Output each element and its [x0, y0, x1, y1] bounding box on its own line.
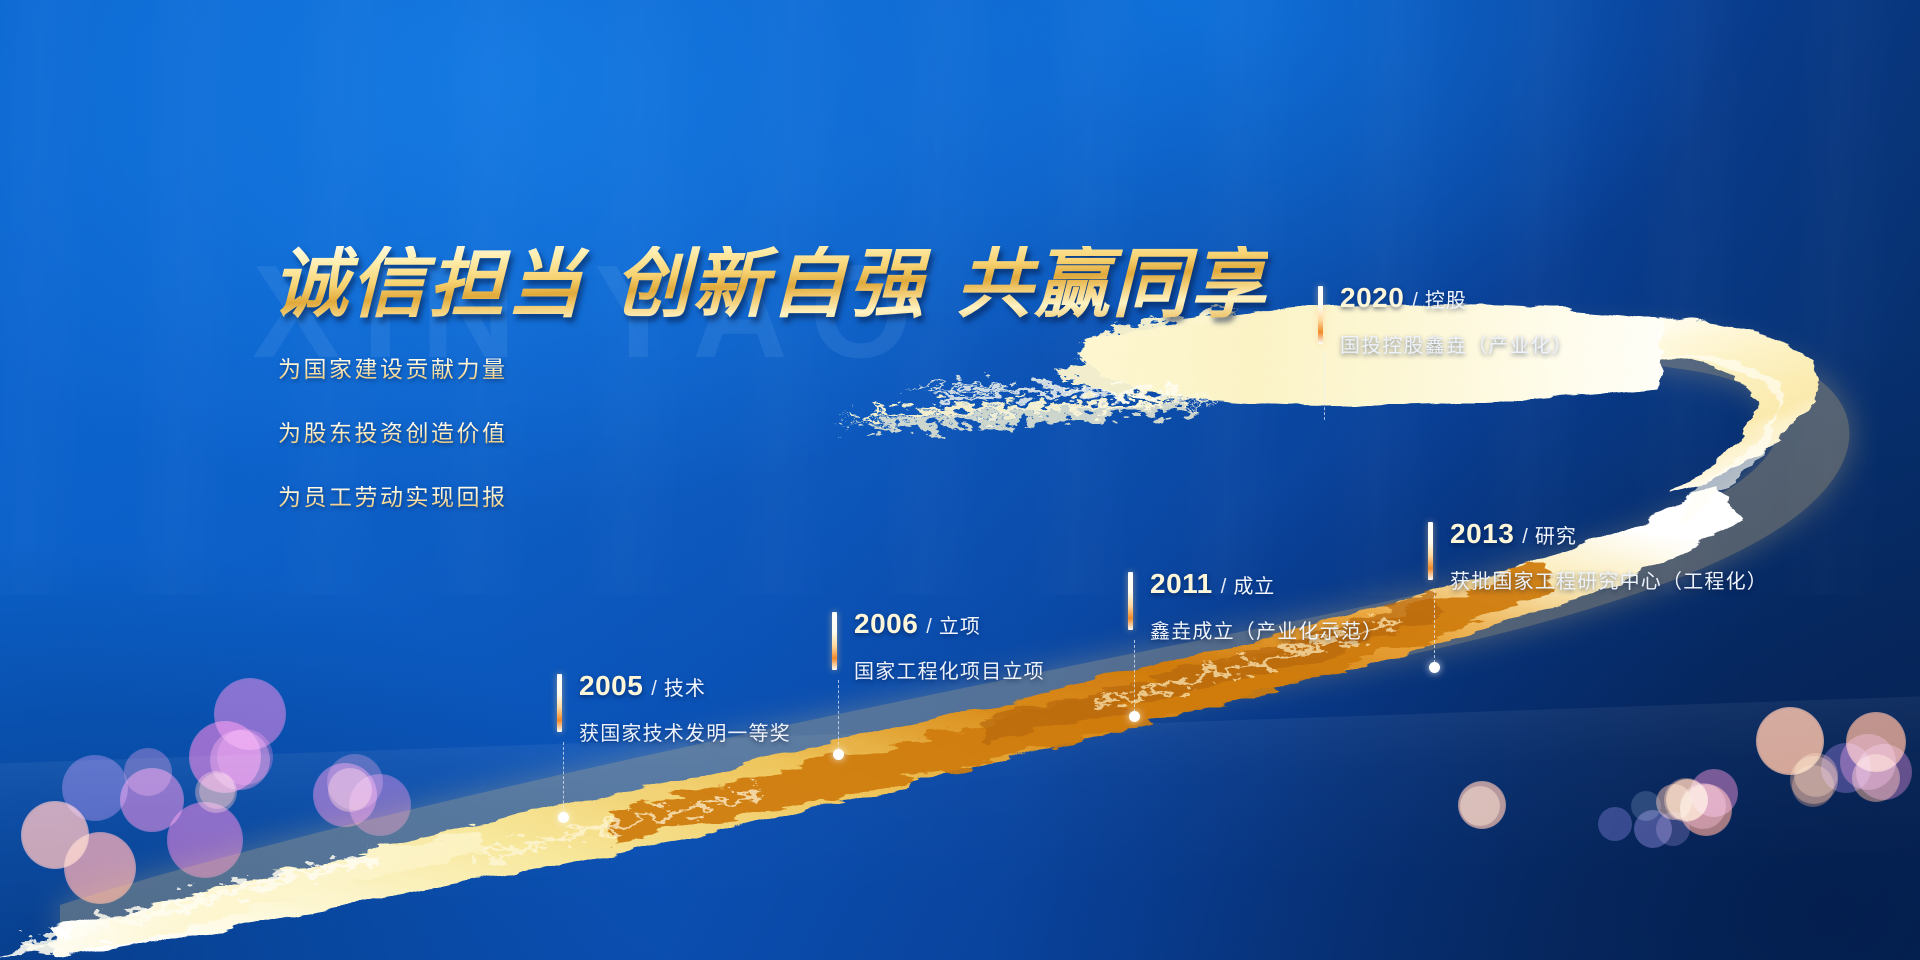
slogan-line-3: 为员工劳动实现回报 — [278, 486, 508, 509]
milestone-heading: 2005/技术 — [579, 672, 791, 700]
milestone-year: 2006 — [854, 610, 918, 638]
milestone-2020[interactable]: 2020/控股 国投控股鑫垚（产业化） — [1318, 284, 1573, 358]
headline-part-2: 创新自强 — [614, 239, 926, 328]
milestone-tag: 成立 — [1233, 577, 1275, 597]
slogan-line-1: 为国家建设贡献力量 — [278, 358, 508, 381]
banner-canvas: XIN YAO 诚信担当创新自强共赢同享 为国家建设贡献力量 为股东投资创造价值… — [0, 0, 1920, 960]
milestone-2013[interactable]: 2013/研究 获批国家工程研究中心（工程化） — [1428, 520, 1768, 594]
milestone-accent-bar — [1318, 286, 1323, 344]
milestone-separator: / — [1221, 577, 1227, 597]
milestone-2005[interactable]: 2005/技术 获国家技术发明一等奖 — [557, 672, 791, 746]
milestone-accent-bar — [557, 674, 562, 732]
milestone-tag: 立项 — [939, 617, 981, 637]
milestone-separator: / — [1522, 527, 1528, 547]
milestone-tag: 控股 — [1425, 291, 1467, 311]
milestone-year: 2020 — [1340, 284, 1404, 312]
milestone-separator: / — [926, 617, 932, 637]
milestone-year: 2011 — [1150, 570, 1213, 598]
milestone-tag: 技术 — [664, 679, 706, 699]
milestone-year: 2013 — [1450, 520, 1514, 548]
milestone-tag: 研究 — [1535, 527, 1577, 547]
milestone-heading: 2013/研究 — [1450, 520, 1768, 548]
milestone-description: 国家工程化项目立项 — [854, 655, 1045, 684]
headline-part-1: 诚信担当 — [272, 239, 584, 328]
milestone-separator: / — [651, 679, 657, 699]
headline-part-3: 共赢同享 — [956, 239, 1268, 328]
milestone-heading: 2006/立项 — [854, 610, 1045, 638]
milestone-heading: 2020/控股 — [1340, 284, 1573, 312]
milestone-description: 获批国家工程研究中心（工程化） — [1450, 565, 1768, 594]
slogan-line-2: 为股东投资创造价值 — [278, 422, 508, 445]
milestone-heading: 2011/成立 — [1150, 570, 1383, 598]
milestone-description: 鑫垚成立（产业化示范） — [1150, 615, 1383, 644]
milestone-description: 获国家技术发明一等奖 — [579, 717, 791, 746]
page-title: 诚信担当创新自强共赢同享 — [272, 246, 1268, 322]
milestone-description: 国投控股鑫垚（产业化） — [1340, 329, 1573, 358]
milestone-accent-bar — [1428, 522, 1433, 580]
milestone-2011[interactable]: 2011/成立 鑫垚成立（产业化示范） — [1128, 570, 1383, 644]
milestone-separator: / — [1412, 291, 1418, 311]
milestone-accent-bar — [1128, 572, 1133, 630]
milestone-2006[interactable]: 2006/立项 国家工程化项目立项 — [832, 610, 1045, 684]
slogan-list: 为国家建设贡献力量 为股东投资创造价值 为员工劳动实现回报 — [278, 358, 508, 550]
milestone-year: 2005 — [579, 672, 643, 700]
milestone-accent-bar — [832, 612, 837, 670]
